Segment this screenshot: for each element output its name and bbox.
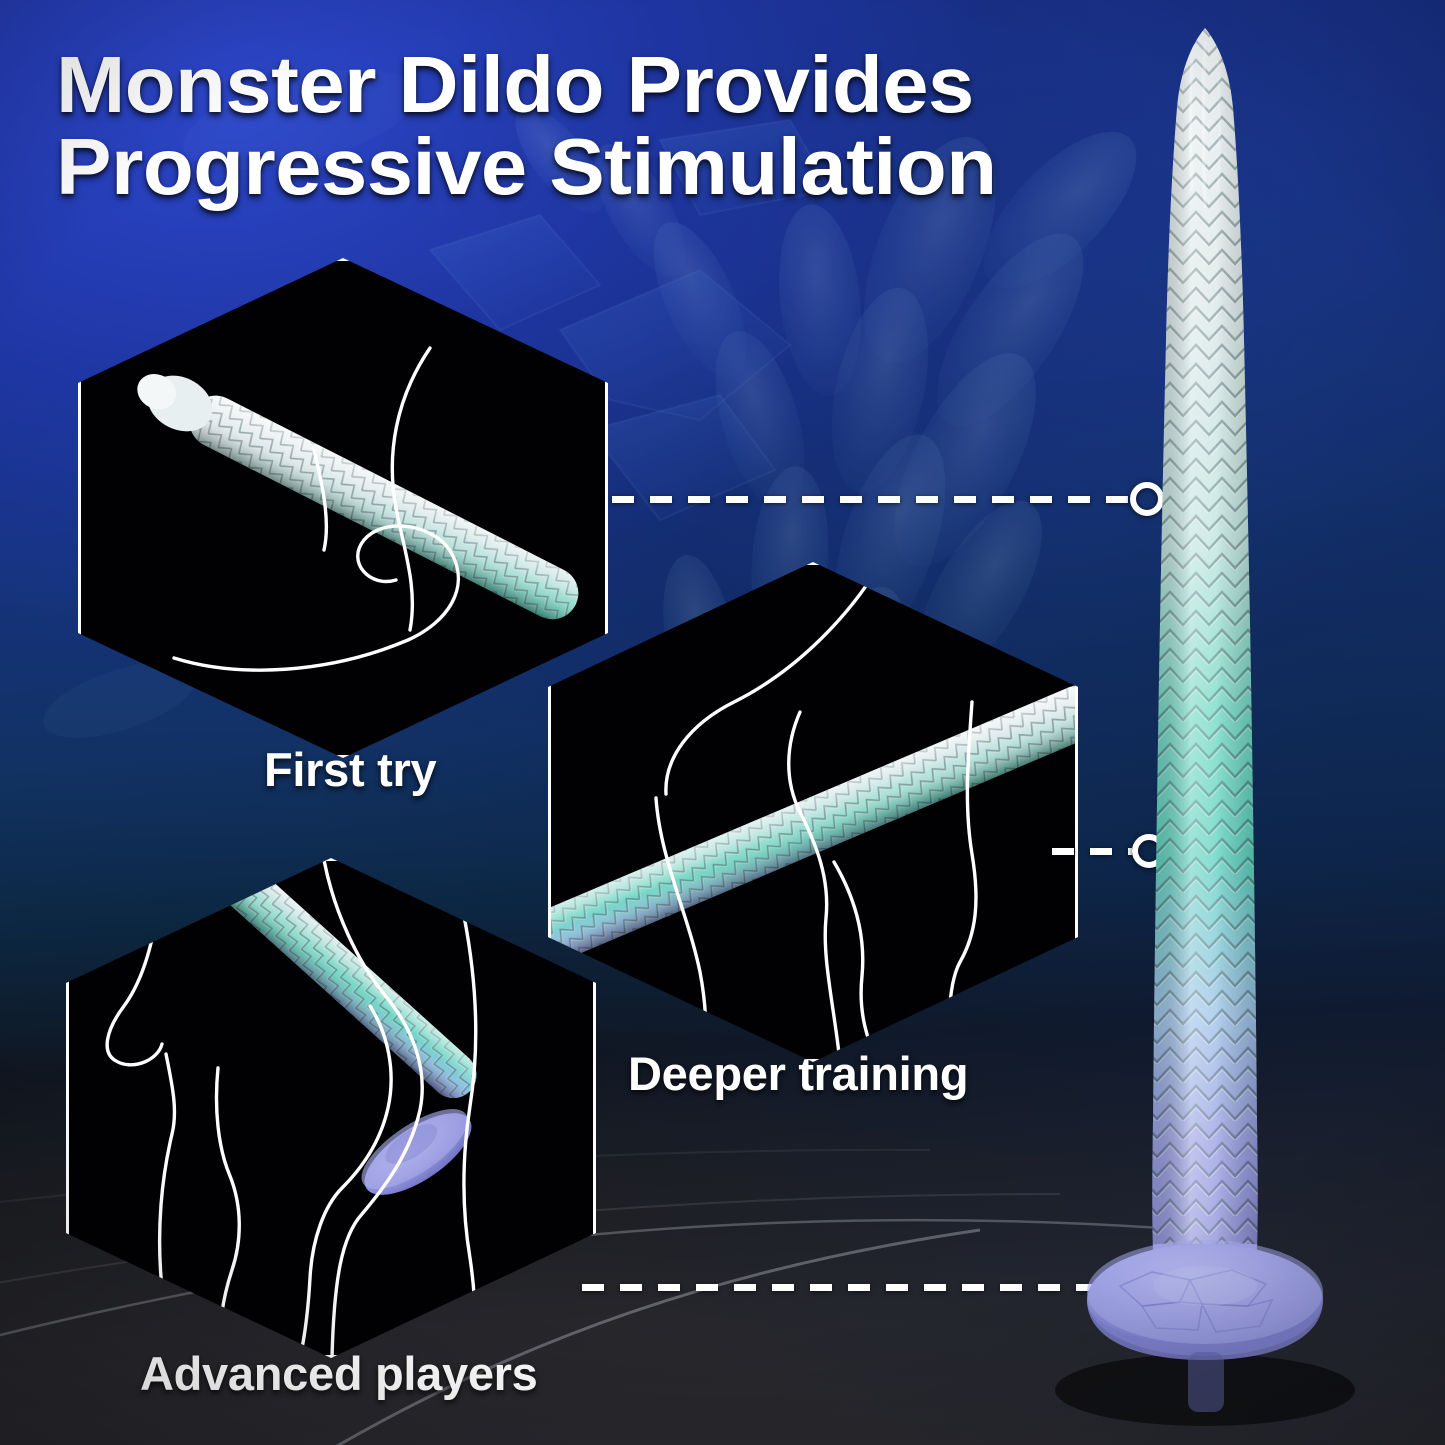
panel-deeper-training[interactable] (548, 562, 1078, 1062)
panel-deeper-training-image (548, 562, 1078, 1062)
caption-deeper-training: Deeper training (628, 1046, 968, 1101)
panel-advanced-players[interactable] (66, 858, 596, 1358)
deeper-training-illustration (548, 562, 1078, 1062)
product-feature-image: Monster Dildo Provides Progressive Stimu… (0, 0, 1445, 1445)
panel-advanced-players-image (66, 858, 596, 1358)
caption-advanced-players: Advanced players (140, 1346, 538, 1401)
caption-first-try: First try (264, 742, 436, 797)
panel-first-try-image (78, 258, 608, 758)
product-image (1040, 0, 1370, 1445)
product-shaft (1130, 0, 1290, 1300)
page-title: Monster Dildo Provides Progressive Stimu… (56, 44, 1158, 207)
title-line-2: Progressive Stimulation (56, 126, 1158, 208)
title-line-1: Monster Dildo Provides (56, 40, 974, 129)
panel-first-try[interactable] (78, 258, 608, 758)
advanced-players-illustration (66, 858, 596, 1358)
first-try-illustration (78, 258, 608, 758)
